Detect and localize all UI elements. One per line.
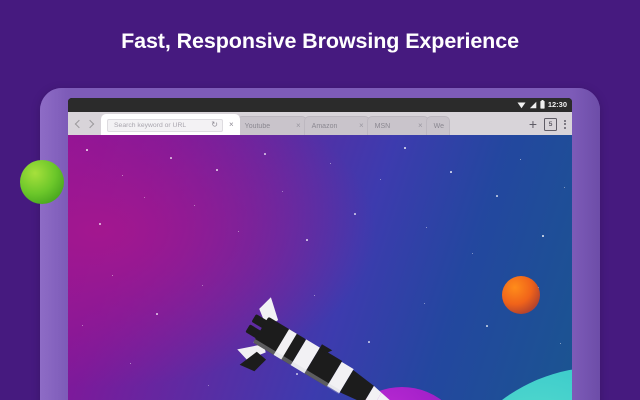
android-status-bar: 12:30 — [68, 98, 572, 112]
forward-icon[interactable] — [85, 118, 97, 130]
nav-buttons — [68, 118, 101, 135]
tab-label: We — [427, 123, 444, 130]
tab-partial[interactable]: We — [426, 116, 450, 135]
reload-icon[interactable]: ↻ — [211, 121, 222, 129]
saturn-v-rocket — [218, 255, 428, 400]
tab-label: Amazon — [305, 123, 338, 130]
back-icon[interactable] — [72, 118, 84, 130]
tablet-bezel-right — [572, 88, 600, 400]
tab-active[interactable]: Search keyword or URL ↻ × — [101, 114, 240, 135]
tablet-screen: 12:30 Search keyword or URL ↻ × Youtube — [68, 98, 572, 400]
tab-youtube[interactable]: Youtube × — [237, 116, 307, 135]
tab-amazon[interactable]: Amazon × — [304, 116, 370, 135]
kebab-menu-icon[interactable] — [564, 120, 566, 129]
space-illustration — [68, 135, 572, 400]
tablet-bezel-left — [40, 88, 68, 400]
tablet-device: 12:30 Search keyword or URL ↻ × Youtube — [40, 88, 600, 400]
tab-count-badge[interactable]: 5 — [544, 118, 557, 131]
status-bar-clock: 12:30 — [548, 101, 567, 109]
address-bar[interactable]: Search keyword or URL ↻ — [107, 119, 223, 132]
tab-label: MSN — [368, 123, 391, 130]
orange-planet — [502, 276, 540, 314]
new-tab-icon[interactable]: + — [529, 117, 537, 131]
tab-close-icon[interactable]: × — [223, 121, 239, 129]
tab-strip-tools: + 5 — [521, 117, 572, 135]
screenshot-root: Fast, Responsive Browsing Experience — [0, 0, 640, 400]
search-input-placeholder: Search keyword or URL — [108, 122, 186, 129]
tab-label: Youtube — [238, 123, 270, 130]
tab-msn[interactable]: MSN × — [367, 116, 429, 135]
browser-tab-strip: Search keyword or URL ↻ × Youtube × Amaz… — [68, 112, 572, 135]
green-planet — [20, 160, 64, 204]
page-title: Fast, Responsive Browsing Experience — [0, 29, 640, 54]
